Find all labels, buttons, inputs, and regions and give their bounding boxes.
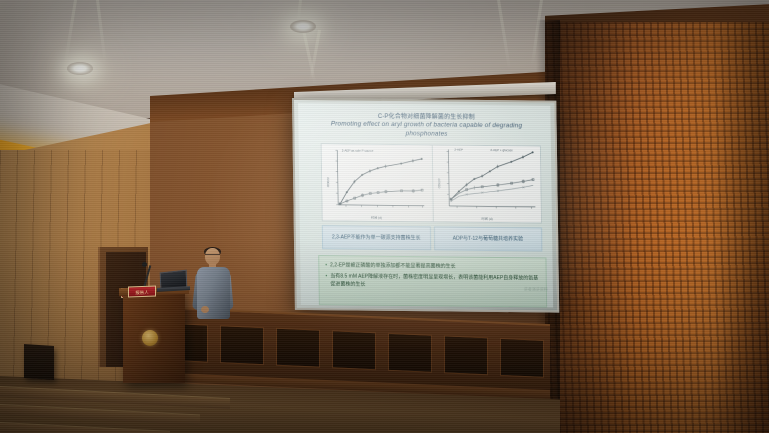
bullet-text: 2,2-EP是被正磷酸的单独添加都不能显著提高菌株的生长: [330, 261, 456, 270]
chart-left-legend: 2-AEP as sole P source: [342, 148, 374, 153]
stage-panel: [220, 325, 264, 365]
lecture-hall-photo: 安全出口 C-P化合物对细菌降解菌的生长抑制 Promoting effect …: [0, 0, 769, 433]
stage-panel: [500, 338, 544, 378]
podium-nameplate: 报告人: [128, 286, 156, 298]
chart-left-ylabel: OD600: [326, 177, 330, 187]
caption-left: 2,3-AEP不能作为单一碳源支持菌株生长: [322, 225, 431, 250]
bullet-marker-icon: •: [325, 272, 327, 288]
chart-left-plot: [322, 144, 431, 221]
chart-right-legend-item-1: 2-AEP: [454, 148, 463, 152]
slide-bullet-box: • 2,2-EP是被正磷酸的单独添加都不能显著提高菌株的生长 • 当有8.5 m…: [318, 255, 547, 307]
slide-charts: 2-AEP as sole P source OD600 时间 (d): [321, 143, 542, 223]
ceiling-downlight-icon: [290, 20, 316, 33]
stage-panel: [276, 328, 320, 368]
chart-right-legend: 2-AEP: [454, 148, 463, 152]
chart-right: 2-AEP 2-AEP + glucose OD600 时间 (d): [431, 145, 541, 222]
microphone-icon: [142, 262, 147, 267]
bullet-item: • 当有8.5 mM AEP降解液存在时，菌株密度明显呈现增长，表明该菌能利用A…: [325, 272, 539, 290]
chart-right-ylabel: OD600: [437, 179, 441, 189]
wall-right-shading: [545, 22, 769, 433]
chart-left-legend-item-1: 2-AEP as sole P source: [342, 148, 374, 152]
slide-captions: 2,3-AEP不能作为单一碳源支持菌株生长 ADP与T-12与葡萄糖共培养实验: [322, 225, 543, 251]
presentation-slide: C-P化合物对细菌降解菌的生长抑制 Promoting effect on ar…: [298, 103, 553, 307]
chart-right-legend-item-2: 2-AEP + glucose: [490, 148, 512, 152]
podium-nameplate-label: 报告人: [129, 287, 155, 297]
stage-panel: [444, 335, 488, 375]
caption-right: ADP与T-12与葡萄糖共培养实验: [433, 226, 542, 251]
slide-watermark: 讲者演讲资料: [524, 286, 548, 291]
bullet-item: • 2,2-EP是被正磷酸的单独添加都不能显著提高菌株的生长: [325, 261, 539, 271]
projection-screen: C-P化合物对细菌降解菌的生长抑制 Promoting effect on ar…: [292, 98, 559, 313]
floor-monitor-speaker: [24, 344, 54, 380]
ceiling-downlight-icon: [67, 62, 93, 75]
chart-right-legend-2: 2-AEP + glucose: [490, 148, 512, 152]
bullet-marker-icon: •: [325, 261, 327, 269]
glasses-icon: [205, 254, 220, 258]
speaker-person: [194, 248, 234, 328]
slide-title: C-P化合物对细菌降解菌的生长抑制 Promoting effect on ar…: [312, 112, 541, 140]
stage-panel: [332, 330, 376, 370]
slide-title-en: Promoting effect on aryl growth of bacte…: [312, 121, 540, 140]
stage-panel: [388, 333, 432, 373]
speaker-hand: [201, 306, 209, 313]
chart-right-plot: [432, 145, 541, 222]
bullet-text: 当有8.5 mM AEP降解液存在时，菌株密度明显呈现增长，表明该菌能利用AEP…: [330, 272, 540, 290]
podium-emblem-icon: [142, 330, 158, 346]
chart-left: 2-AEP as sole P source OD600 时间 (d): [322, 144, 431, 221]
